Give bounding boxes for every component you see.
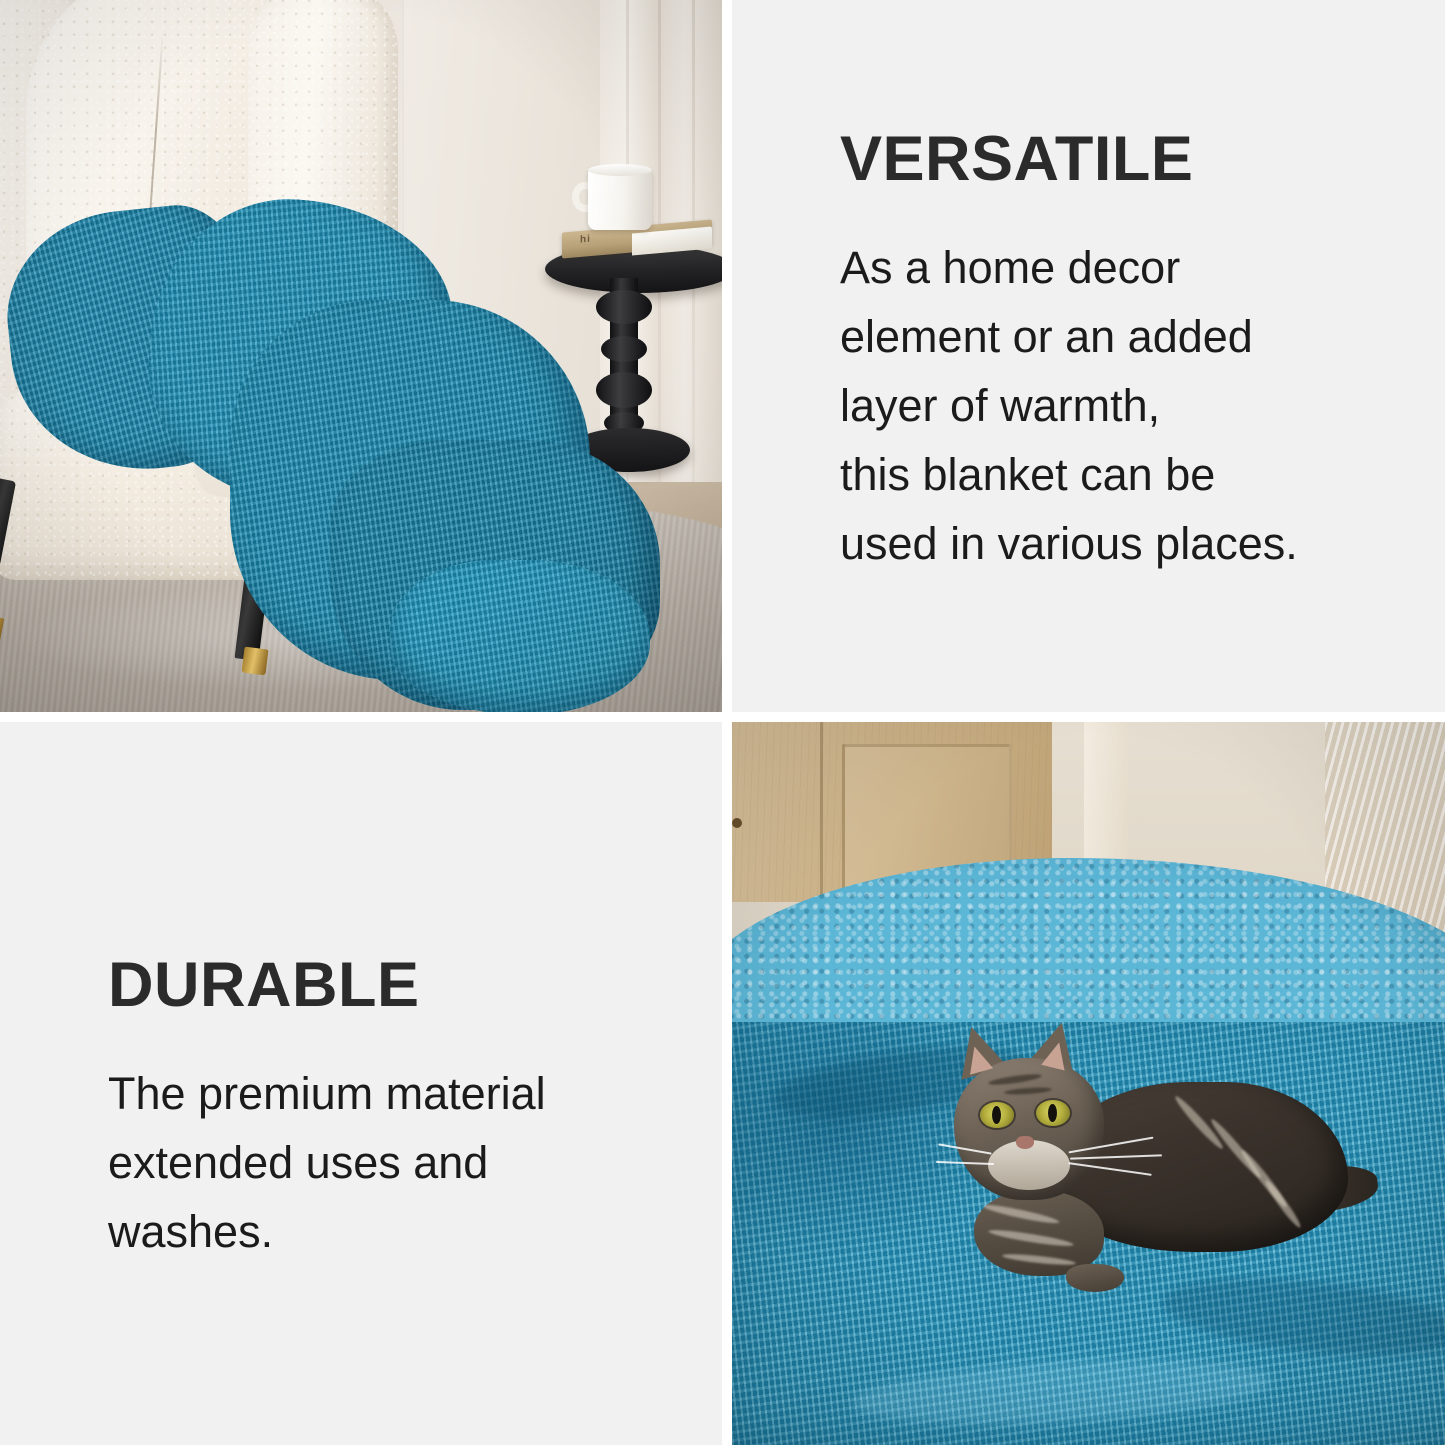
throw-blanket-hem — [390, 560, 650, 712]
cat-nose — [1016, 1136, 1034, 1149]
durable-body-line: The premium material — [108, 1059, 668, 1128]
versatile-body-line: used in various places. — [840, 509, 1420, 578]
photo-armchair-with-throw: hi — [0, 0, 722, 712]
versatile-body-line: As a home decor — [840, 233, 1420, 302]
product-feature-collage: hi — [0, 0, 1445, 1445]
ceramic-mug — [588, 168, 652, 230]
cat-paw — [1066, 1264, 1124, 1292]
durable-body-line: washes. — [108, 1197, 668, 1266]
tabby-cat — [928, 1040, 1348, 1330]
versatile-text-block: VERSATILE As a home decor element or an … — [840, 128, 1420, 578]
table-baluster-knob — [596, 372, 652, 408]
durable-body: The premium material extended uses and w… — [108, 1059, 668, 1266]
table-baluster-knob — [601, 336, 647, 362]
mug-rim — [588, 164, 652, 176]
armchair-scene: hi — [0, 0, 722, 712]
cat-scene — [732, 722, 1445, 1445]
versatile-heading: VERSATILE — [840, 128, 1420, 191]
durable-heading: DURABLE — [108, 954, 668, 1017]
versatile-body-line: element or an added — [840, 302, 1420, 371]
table-baluster-knob — [596, 290, 652, 324]
chair-leg-brass-cap — [242, 647, 269, 676]
book-spine-text: hi — [580, 234, 591, 246]
photo-cat-on-blanket — [732, 722, 1445, 1445]
versatile-body-line: layer of warmth, — [840, 371, 1420, 440]
durable-text-block: DURABLE The premium material extended us… — [108, 954, 668, 1266]
versatile-body-line: this blanket can be — [840, 440, 1420, 509]
panel-durable: DURABLE The premium material extended us… — [0, 722, 722, 1445]
durable-body-line: extended uses and — [108, 1128, 668, 1197]
cabinet-knob — [732, 818, 742, 828]
panel-versatile: VERSATILE As a home decor element or an … — [732, 0, 1445, 712]
versatile-body: As a home decor element or an added laye… — [840, 233, 1420, 578]
